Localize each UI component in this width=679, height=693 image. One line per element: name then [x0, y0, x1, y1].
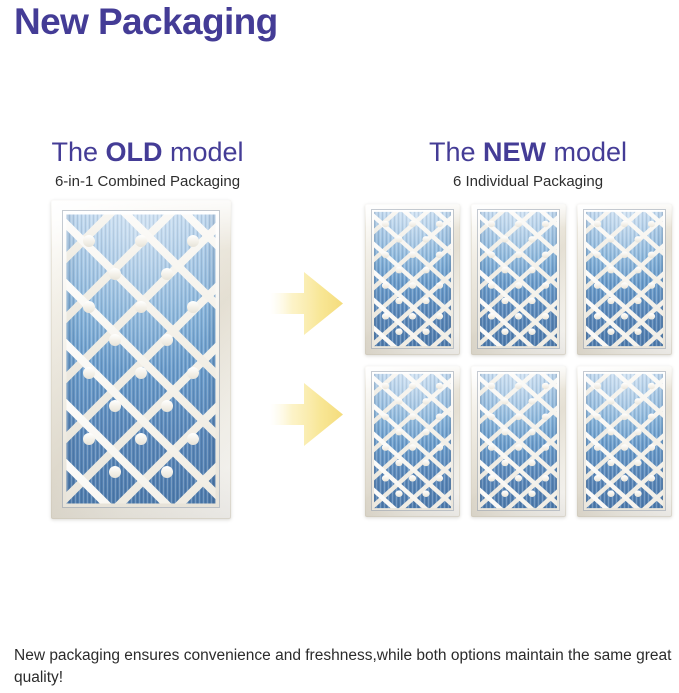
old-heading-prefix: The [51, 137, 105, 167]
filter-lattice [478, 210, 559, 348]
footer-caption: New packaging ensures convenience and fr… [14, 645, 674, 690]
filter-lattice [584, 210, 665, 348]
filter-lattice [372, 210, 453, 348]
air-filter-icon-small [365, 204, 460, 355]
air-filter-icon-small [471, 366, 566, 517]
filter-media [478, 372, 559, 510]
filter-media [584, 372, 665, 510]
filter-media [584, 210, 665, 348]
air-filter-icon-large [51, 200, 231, 519]
new-model-heading: The NEW model [383, 138, 673, 168]
air-filter-icon-small [577, 366, 672, 517]
old-heading-suffix: model [162, 137, 243, 167]
old-heading-emphasis: OLD [105, 137, 162, 167]
new-model-subtitle: 6 Individual Packaging [383, 174, 673, 191]
new-heading-emphasis: NEW [483, 137, 546, 167]
filter-media [63, 211, 219, 507]
air-filter-icon-small [365, 366, 460, 517]
air-filter-icon-small [471, 204, 566, 355]
filter-media [372, 372, 453, 510]
arrow-right-icon [270, 271, 344, 336]
filter-lattice [478, 372, 559, 510]
arrow-right-icon [270, 382, 344, 447]
filter-lattice [63, 211, 219, 507]
old-model-heading: The OLD model [0, 138, 295, 168]
filter-media [372, 210, 453, 348]
product-infographic: New Packaging The OLD model 6-in-1 Combi… [0, 0, 679, 693]
filter-media [478, 210, 559, 348]
filter-lattice [372, 372, 453, 510]
filter-lattice [584, 372, 665, 510]
new-heading-prefix: The [429, 137, 483, 167]
new-heading-suffix: model [546, 137, 627, 167]
page-title: New Packaging [14, 1, 278, 44]
air-filter-icon-small [577, 204, 672, 355]
old-model-subtitle: 6-in-1 Combined Packaging [0, 174, 295, 191]
